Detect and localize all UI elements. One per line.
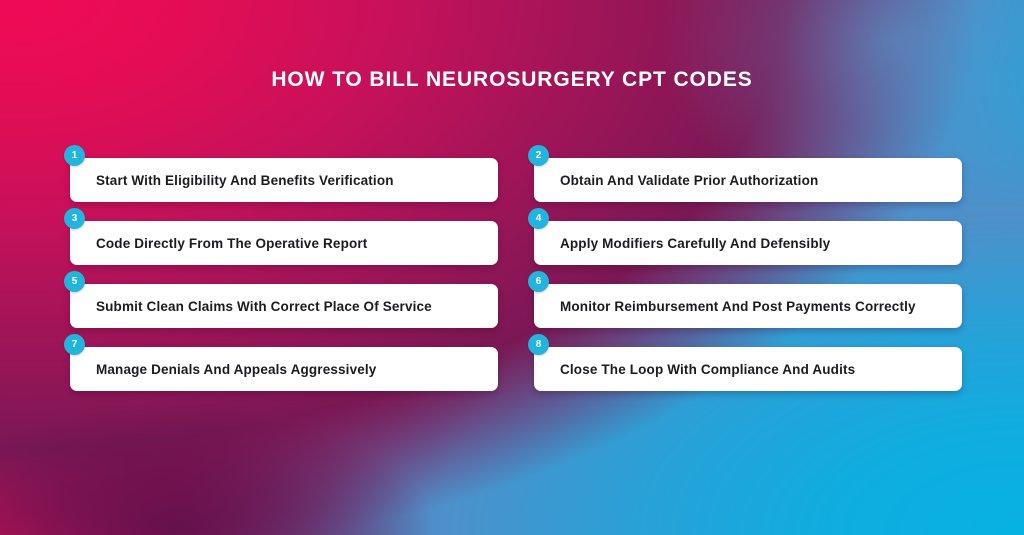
step-number-badge-8: 8 bbox=[528, 334, 549, 355]
step-label-1: Start With Eligibility And Benefits Veri… bbox=[70, 172, 408, 189]
step-item-2: 2 Obtain And Validate Prior Authorizatio… bbox=[528, 145, 962, 189]
steps-grid: 1 Start With Eligibility And Benefits Ve… bbox=[64, 145, 962, 378]
step-card-1: Start With Eligibility And Benefits Veri… bbox=[70, 158, 498, 202]
step-number-badge-5: 5 bbox=[64, 271, 85, 292]
step-number-badge-3: 3 bbox=[64, 208, 85, 229]
step-item-7: 7 Manage Denials And Appeals Aggressivel… bbox=[64, 334, 498, 378]
step-label-2: Obtain And Validate Prior Authorization bbox=[534, 172, 832, 189]
step-card-8: Close The Loop With Compliance And Audit… bbox=[534, 347, 962, 391]
step-card-4: Apply Modifiers Carefully And Defensibly bbox=[534, 221, 962, 265]
step-label-8: Close The Loop With Compliance And Audit… bbox=[534, 361, 869, 378]
step-card-5: Submit Clean Claims With Correct Place O… bbox=[70, 284, 498, 328]
step-card-2: Obtain And Validate Prior Authorization bbox=[534, 158, 962, 202]
step-number-badge-7: 7 bbox=[64, 334, 85, 355]
step-card-3: Code Directly From The Operative Report bbox=[70, 221, 498, 265]
step-item-8: 8 Close The Loop With Compliance And Aud… bbox=[528, 334, 962, 378]
step-label-5: Submit Clean Claims With Correct Place O… bbox=[70, 298, 446, 315]
step-label-3: Code Directly From The Operative Report bbox=[70, 235, 381, 252]
step-label-7: Manage Denials And Appeals Aggressively bbox=[70, 361, 390, 378]
step-number-badge-2: 2 bbox=[528, 145, 549, 166]
step-item-1: 1 Start With Eligibility And Benefits Ve… bbox=[64, 145, 498, 189]
step-number-badge-6: 6 bbox=[528, 271, 549, 292]
step-item-4: 4 Apply Modifiers Carefully And Defensib… bbox=[528, 208, 962, 252]
step-item-6: 6 Monitor Reimbursement And Post Payment… bbox=[528, 271, 962, 315]
step-card-6: Monitor Reimbursement And Post Payments … bbox=[534, 284, 962, 328]
step-card-7: Manage Denials And Appeals Aggressively bbox=[70, 347, 498, 391]
step-number-badge-1: 1 bbox=[64, 145, 85, 166]
step-item-5: 5 Submit Clean Claims With Correct Place… bbox=[64, 271, 498, 315]
step-number-badge-4: 4 bbox=[528, 208, 549, 229]
step-item-3: 3 Code Directly From The Operative Repor… bbox=[64, 208, 498, 252]
step-label-6: Monitor Reimbursement And Post Payments … bbox=[534, 298, 930, 315]
infographic-canvas: HOW TO BILL NEUROSURGERY CPT CODES 1 Sta… bbox=[0, 0, 1024, 535]
step-label-4: Apply Modifiers Carefully And Defensibly bbox=[534, 235, 844, 252]
page-title: HOW TO BILL NEUROSURGERY CPT CODES bbox=[0, 66, 1024, 94]
